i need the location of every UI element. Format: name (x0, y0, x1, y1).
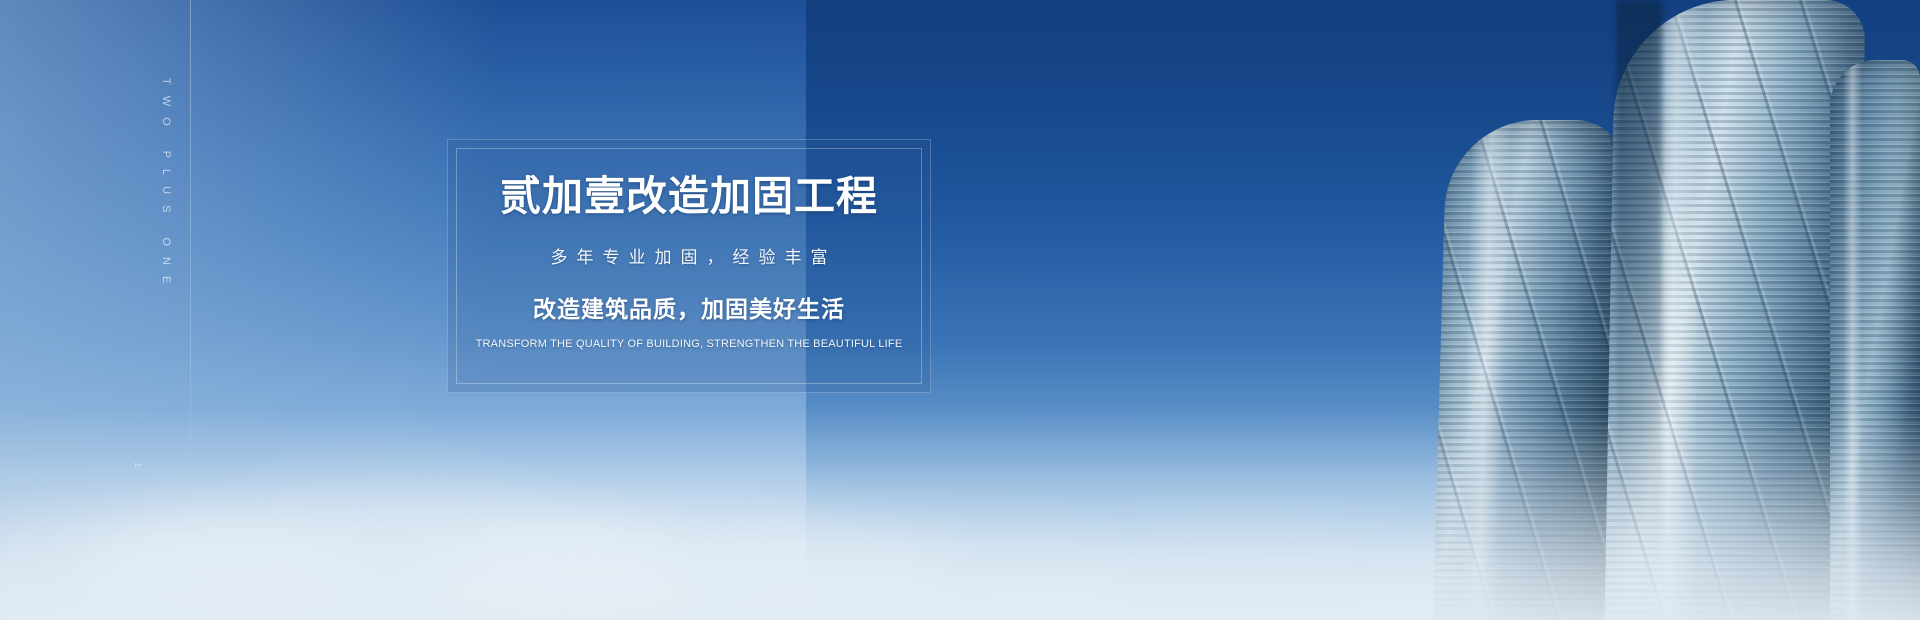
hero-banner: TWO PLUS ONE 1 贰加壹改造加固工程 多年专业加固，经验丰富 改造建… (0, 0, 1920, 620)
hero-panel-content: 贰加壹改造加固工程 多年专业加固，经验丰富 改造建筑品质，加固美好生活 TRAN… (448, 140, 930, 392)
vertical-divider-line (190, 0, 191, 506)
hero-slogan: 改造建筑品质，加固美好生活 (533, 290, 845, 324)
hero-tagline-english: TRANSFORM THE QUALITY OF BUILDING, STREN… (476, 338, 903, 350)
hero-subtitle: 多年专业加固，经验丰富 (542, 243, 837, 268)
horizon-haze (0, 410, 1920, 620)
vertical-brand-text: TWO PLUS ONE (160, 78, 172, 294)
page-title: 贰加壹改造加固工程 (500, 176, 878, 217)
slide-index-marker: 1 (132, 462, 143, 471)
hero-text-panel: 贰加壹改造加固工程 多年专业加固，经验丰富 改造建筑品质，加固美好生活 TRAN… (447, 139, 931, 393)
